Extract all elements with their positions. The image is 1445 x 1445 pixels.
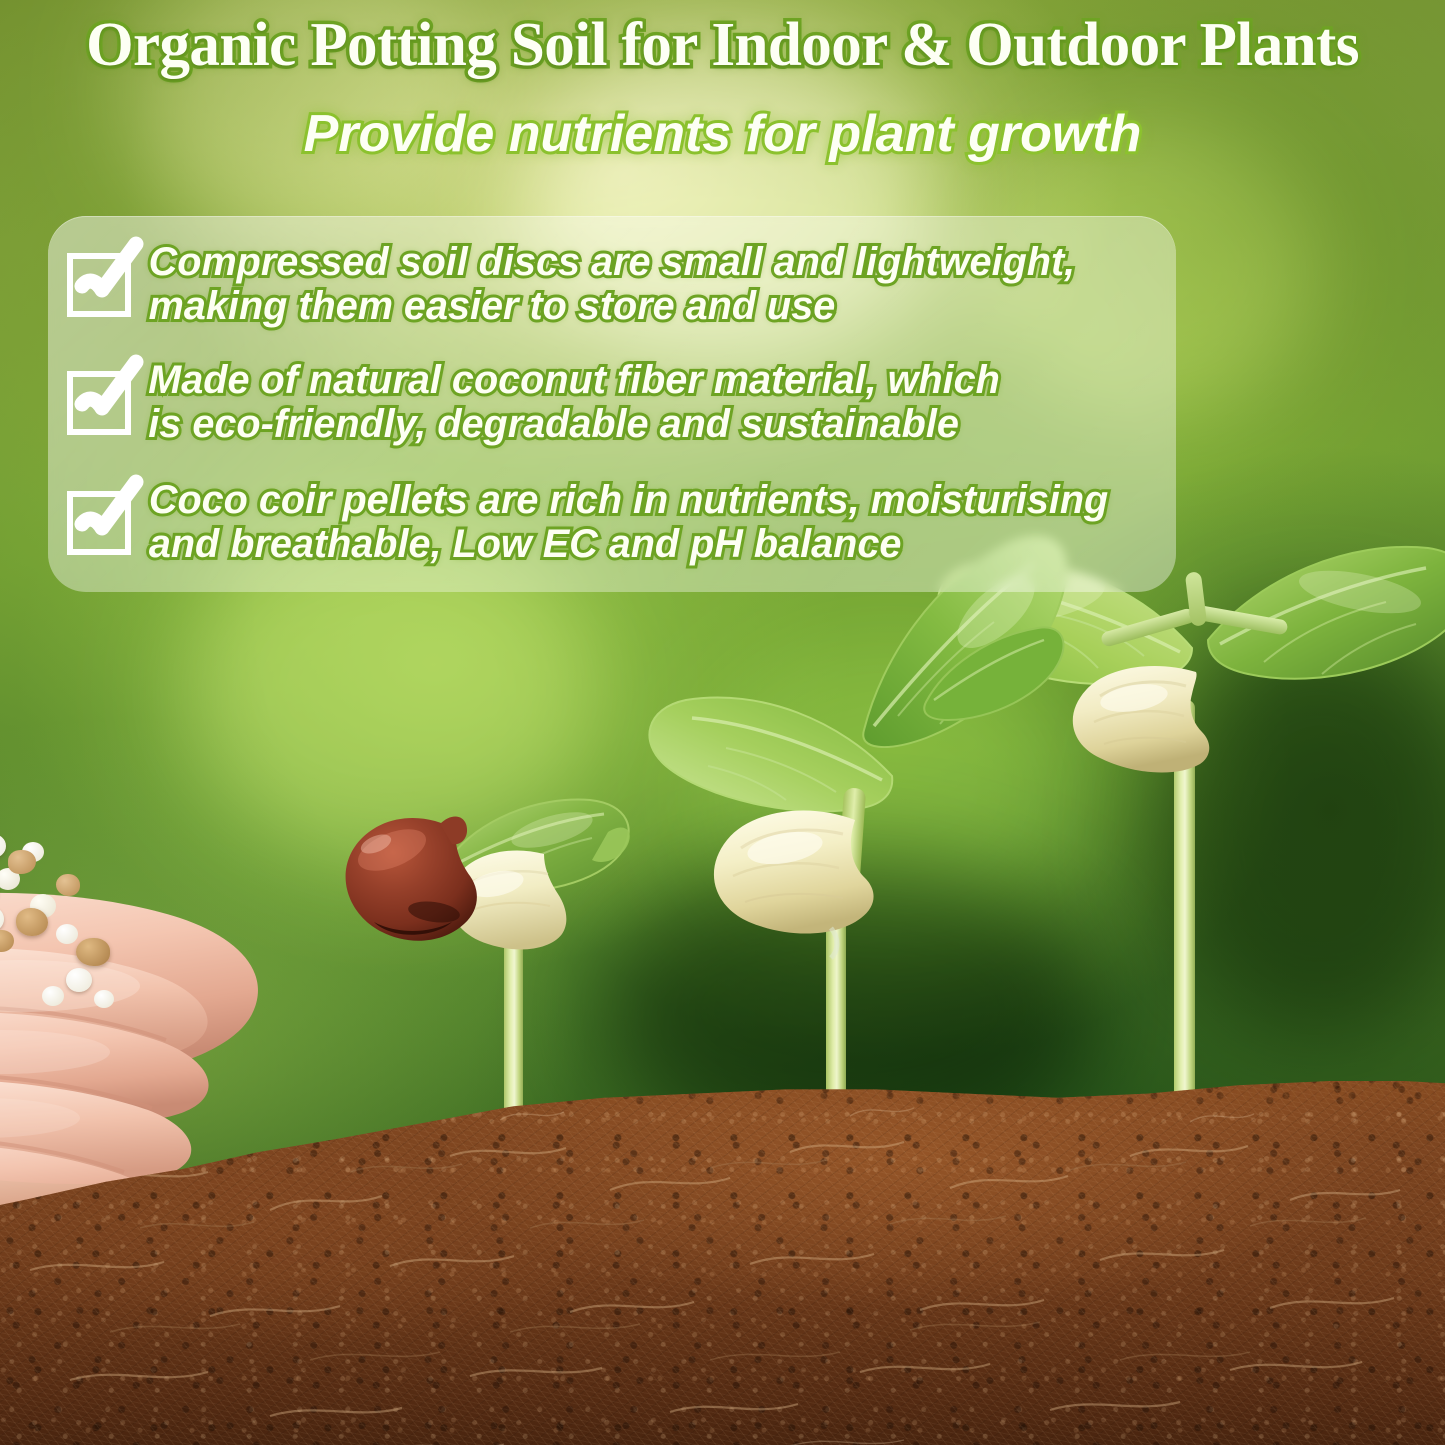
feature-bullet-list: Compressed soil discs are small and ligh…: [48, 216, 1176, 592]
list-item-label: Made of natural coconut fiber material, …: [148, 358, 1000, 446]
list-item-label: Compressed soil discs are small and ligh…: [149, 240, 1075, 328]
list-item: Compressed soil discs are small and ligh…: [66, 240, 1080, 328]
product-feature-image: Organic Potting Soil for Indoor & Outdoo…: [0, 0, 1445, 1445]
list-item-label: Coco coir pellets are rich in nutrients,…: [149, 478, 1108, 566]
bean-cotyledon-2: [705, 800, 945, 960]
checkbox-checked-icon: [66, 362, 128, 432]
leaf-2-far-right: [920, 620, 1070, 730]
list-item: Coco coir pellets are rich in nutrients,…: [66, 478, 1113, 566]
page-subtitle: Provide nutrients for plant growth: [0, 104, 1445, 164]
checkbox-checked-icon: [66, 482, 128, 552]
list-item: Made of natural coconut fiber material, …: [66, 358, 1004, 446]
checkbox-checked-icon: [66, 244, 128, 314]
page-title: Organic Potting Soil for Indoor & Outdoo…: [11, 10, 1434, 81]
